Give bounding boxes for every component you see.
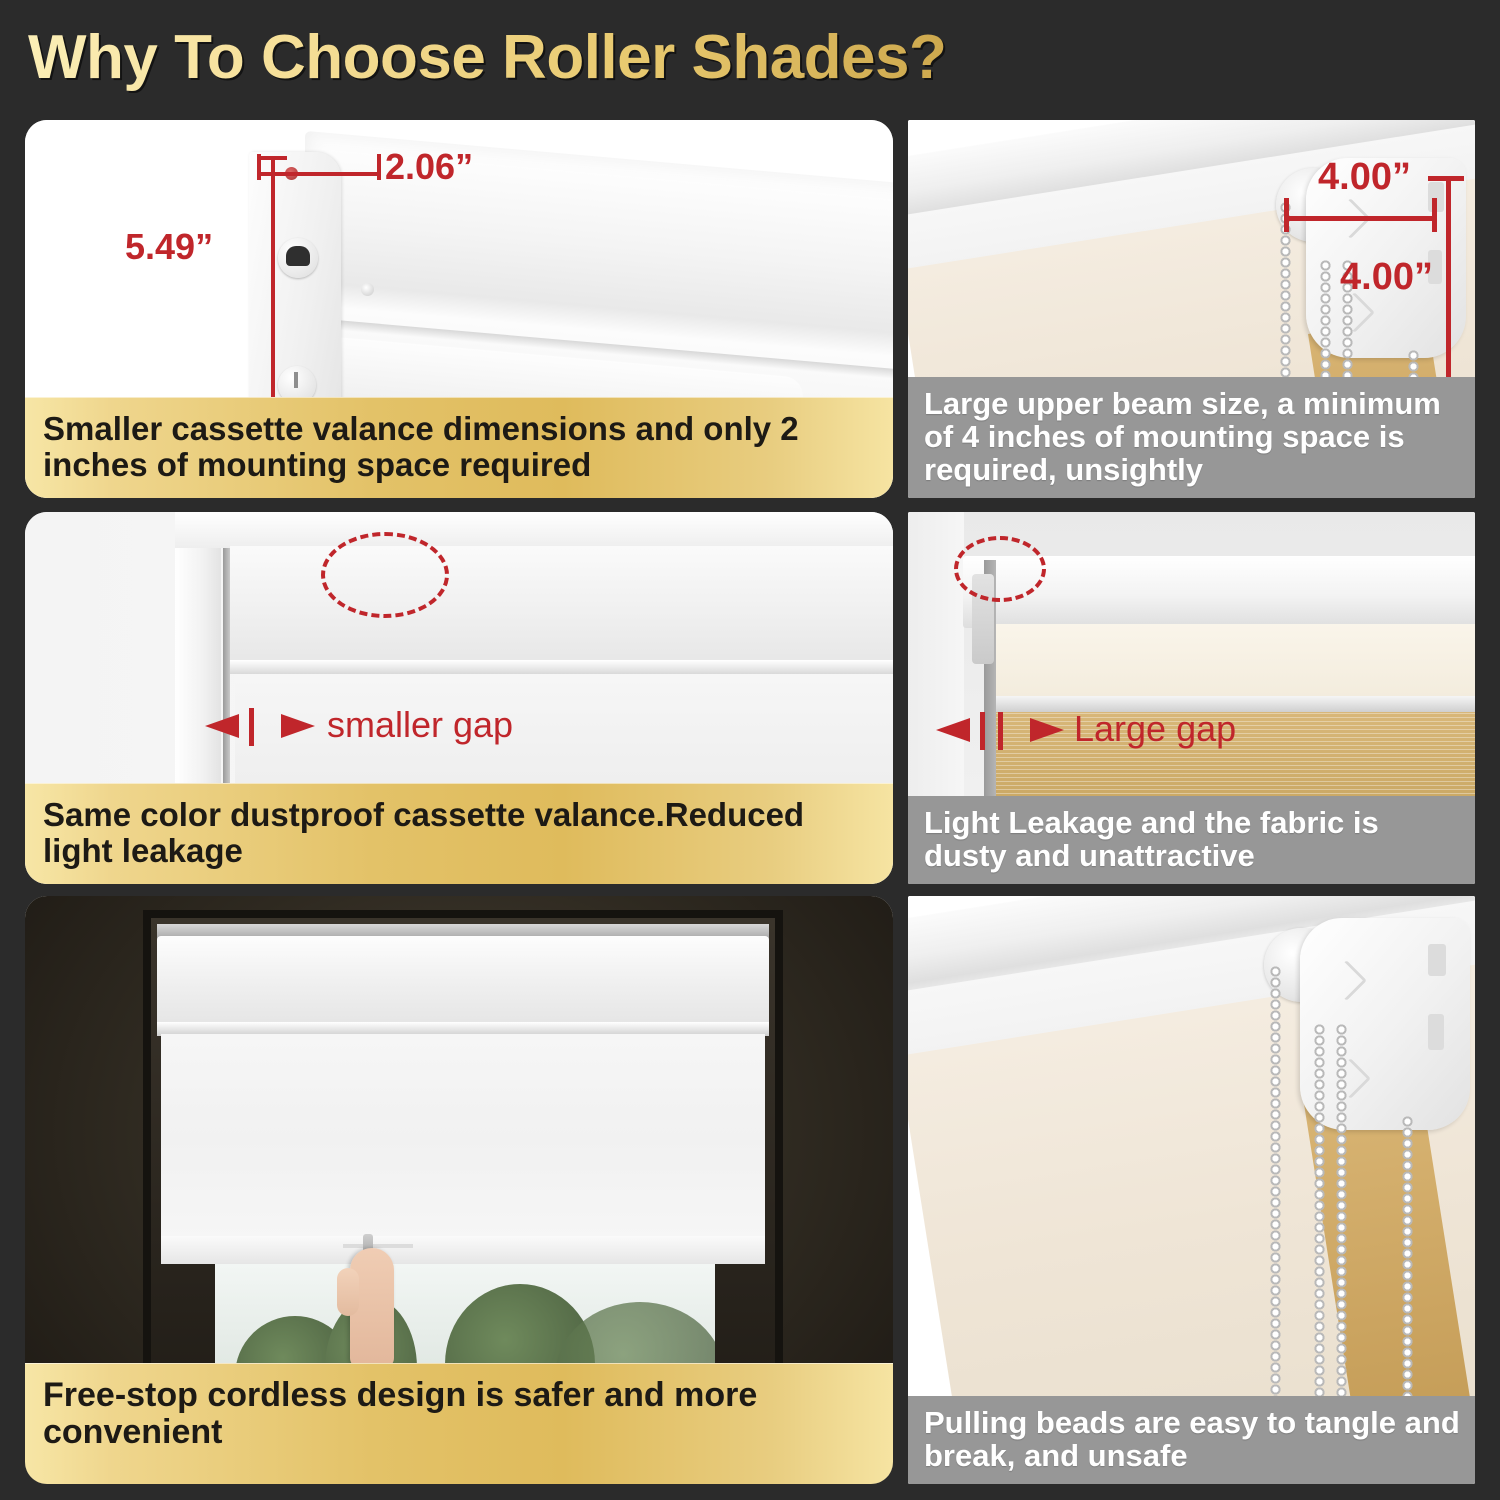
panel-light-leakage[interactable]: Large gap Light Leakage and the fabric i… [908, 512, 1475, 884]
panel-dustproof-valance[interactable]: smaller gap Same color dustproof cassett… [25, 512, 893, 884]
large-gap-label: Large gap [1074, 708, 1236, 750]
smaller-gap-label: smaller gap [327, 704, 513, 746]
page-header: Why To Choose Roller Shades? [28, 22, 1128, 94]
width-dimension-label: 2.06” [385, 146, 473, 188]
highlight-circle-icon [321, 532, 449, 618]
panel-smaller-cassette[interactable]: 2.06” 5.49” Smaller cassette valance dim… [25, 120, 893, 498]
comparison-grid: 2.06” 5.49” Smaller cassette valance dim… [0, 106, 1500, 1500]
width-dimension-line [257, 172, 381, 176]
panel-4-caption: Light Leakage and the fabric is dusty an… [908, 796, 1475, 884]
beam-height-label: 4.00” [1340, 256, 1433, 299]
panel-pulling-beads[interactable]: Pulling beads are easy to tangle and bre… [908, 896, 1475, 1484]
panel-3-caption: Same color dustproof cassette valance.Re… [25, 783, 893, 884]
bead-chain [1336, 1024, 1347, 1436]
bead-chain [1314, 1024, 1325, 1436]
highlight-circle-icon [954, 536, 1046, 602]
panel-cordless-design[interactable]: Free-stop cordless design is safer and m… [25, 896, 893, 1484]
bead-chain [1270, 966, 1281, 1436]
panel-6-caption: Pulling beads are easy to tangle and bre… [908, 1396, 1475, 1484]
panel-5-caption: Free-stop cordless design is safer and m… [25, 1363, 893, 1484]
beam-width-label: 4.00” [1318, 156, 1411, 199]
panel-1-caption: Smaller cassette valance dimensions and … [25, 397, 893, 498]
page-title: Why To Choose Roller Shades? [28, 22, 1128, 94]
height-dimension-label: 5.49” [125, 226, 213, 268]
panel-2-caption: Large upper beam size, a minimum of 4 in… [908, 377, 1475, 498]
panel-large-upper-beam[interactable]: 4.00” 4.00” Large upper beam size, a min… [908, 120, 1475, 498]
bead-chain [1402, 1116, 1413, 1436]
